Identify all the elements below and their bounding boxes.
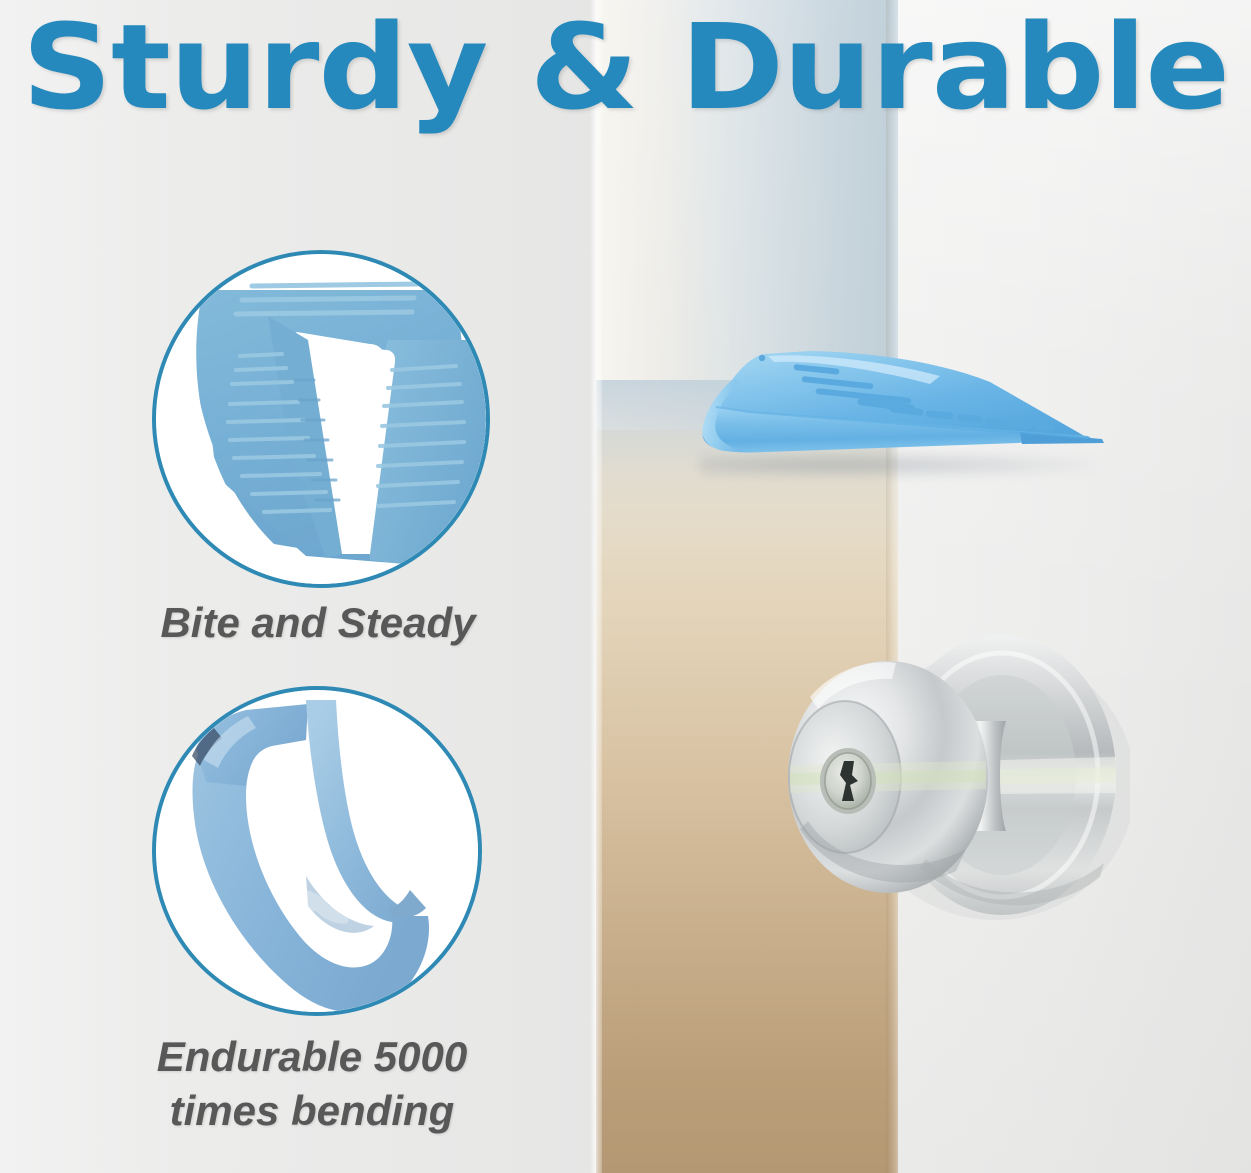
- wedge-corner-nub: [759, 355, 765, 361]
- door-stopper-product: [690, 340, 1120, 500]
- ribbed-wedge-closeup-icon: [156, 254, 486, 584]
- bent-wedge-closeup-icon: [156, 690, 478, 1012]
- feature-2-caption-line-2: times bending: [92, 1084, 532, 1138]
- feature-1-circle: [152, 250, 490, 588]
- feature-2-caption: Endurable 5000 times bending: [92, 1030, 532, 1138]
- door-knob-icon: [770, 625, 1130, 935]
- feature-1-image: [156, 254, 486, 584]
- feature-2-caption-line-1: Endurable 5000: [92, 1030, 532, 1084]
- feature-2-image: [156, 690, 478, 1012]
- door-stopper-wedge-icon: [690, 340, 1120, 500]
- feature-2-circle: [152, 686, 482, 1016]
- background-right-wall-light: [898, 0, 1251, 1173]
- door-knob: [770, 625, 1130, 935]
- product-banner: Sturdy & Durable: [0, 0, 1251, 1173]
- background-wall-door-seam: [590, 0, 602, 1173]
- feature-1-caption: Bite and Steady: [98, 596, 538, 650]
- page-title: Sturdy & Durable: [0, 8, 1251, 126]
